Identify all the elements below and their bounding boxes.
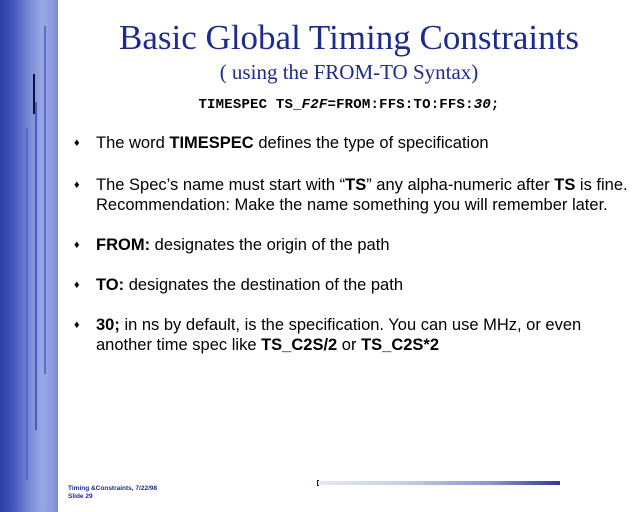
bullet-text-emphasis: TS <box>345 176 366 194</box>
slide-title: Basic Global Timing Constraints <box>58 18 640 58</box>
bullet-text: designates the destination of the path <box>124 276 403 294</box>
timespec-syntax-line: TIMESPEC TS_F2F=FROM:FFS:TO:FFS:30; <box>58 97 640 113</box>
bullet-diamond-icon: ♦ <box>74 235 80 255</box>
bullet-item-3: ♦FROM: designates the origin of the path <box>72 235 630 255</box>
title-block: Basic Global Timing Constraints ( using … <box>58 18 640 85</box>
bullet-text: is fine. <box>575 176 627 194</box>
slide-left-decoration-band <box>0 0 58 512</box>
bullet-list: ♦The word TIMESPEC defines the type of s… <box>72 133 630 355</box>
code-italic-30: 30 <box>474 97 491 113</box>
bullet-text: defines the type of specification <box>254 134 489 152</box>
bullet-text-emphasis: 30; <box>96 316 120 334</box>
code-part-3: ; <box>491 97 500 113</box>
bullet-text: in ns by default, is the specification. … <box>120 316 581 334</box>
presentation-slide: Basic Global Timing Constraints ( using … <box>0 0 640 512</box>
bullet-item-5: ♦30; in ns by default, is the specificat… <box>72 315 630 355</box>
bullet-2-line-1: The Spec’s name must start with “TS” any… <box>96 175 630 195</box>
slide-footer: Timing &Constraints, 7/22/98 Slide 29 <box>68 485 157 501</box>
bullet-text-emphasis: TO: <box>96 276 124 294</box>
footer-line-1: Timing &Constraints, 7/22/98 <box>68 485 157 493</box>
bullet-spacer <box>72 215 630 235</box>
bullet-item-2: ♦The Spec’s name must start with “TS” an… <box>72 175 630 215</box>
bullet-text: designates the origin of the path <box>150 236 389 254</box>
bullet-1-line-1: The word TIMESPEC defines the type of sp… <box>96 133 630 153</box>
bottom-rule <box>318 481 560 485</box>
bullet-item-1: ♦The word TIMESPEC defines the type of s… <box>72 133 630 153</box>
decoration-vertical-line-dark <box>33 74 35 114</box>
bullet-diamond-icon: ♦ <box>74 175 80 195</box>
decoration-vertical-line-2 <box>35 102 37 430</box>
bullet-text-emphasis: TIMESPEC <box>169 134 253 152</box>
decoration-vertical-line-3 <box>44 26 46 374</box>
bullet-diamond-icon: ♦ <box>74 275 80 295</box>
bullet-diamond-icon: ♦ <box>74 133 80 153</box>
bullet-text: another time spec like <box>96 336 261 354</box>
bullet-text: Recommendation: Make the name something … <box>96 196 608 214</box>
bullet-5-line-1: 30; in ns by default, is the specificati… <box>96 315 630 335</box>
slide-subtitle: ( using the FROM-TO Syntax) <box>58 59 640 85</box>
bullet-2-line-2: Recommendation: Make the name something … <box>96 195 630 215</box>
bullet-spacer <box>72 295 630 315</box>
bullet-text-emphasis: TS <box>554 176 575 194</box>
code-part-1: TIMESPEC TS_ <box>198 97 301 113</box>
bullet-text-emphasis: FROM: <box>96 236 150 254</box>
code-italic-f2f: F2F <box>302 97 328 113</box>
bullet-text: The word <box>96 134 169 152</box>
bullet-4-line-1: TO: designates the destination of the pa… <box>96 275 630 295</box>
code-part-2: =FROM:FFS:TO:FFS: <box>327 97 473 113</box>
bullet-3-line-1: FROM: designates the origin of the path <box>96 235 630 255</box>
decoration-vertical-line-1 <box>26 128 28 480</box>
bullet-text-emphasis: TS_C2S/2 <box>261 336 337 354</box>
bullet-item-4: ♦TO: designates the destination of the p… <box>72 275 630 295</box>
bullet-text: The Spec’s name must start with “ <box>96 176 345 194</box>
bullet-text: or <box>337 336 361 354</box>
bullet-spacer <box>72 255 630 275</box>
bullet-diamond-icon: ♦ <box>74 315 80 335</box>
bullet-text-emphasis: TS_C2S*2 <box>361 336 439 354</box>
bullet-5-line-2: another time spec like TS_C2S/2 or TS_C2… <box>96 335 630 355</box>
footer-line-2: Slide 29 <box>68 493 157 501</box>
bullet-spacer <box>72 153 630 175</box>
bullet-text: ” any alpha-numeric after <box>366 176 554 194</box>
